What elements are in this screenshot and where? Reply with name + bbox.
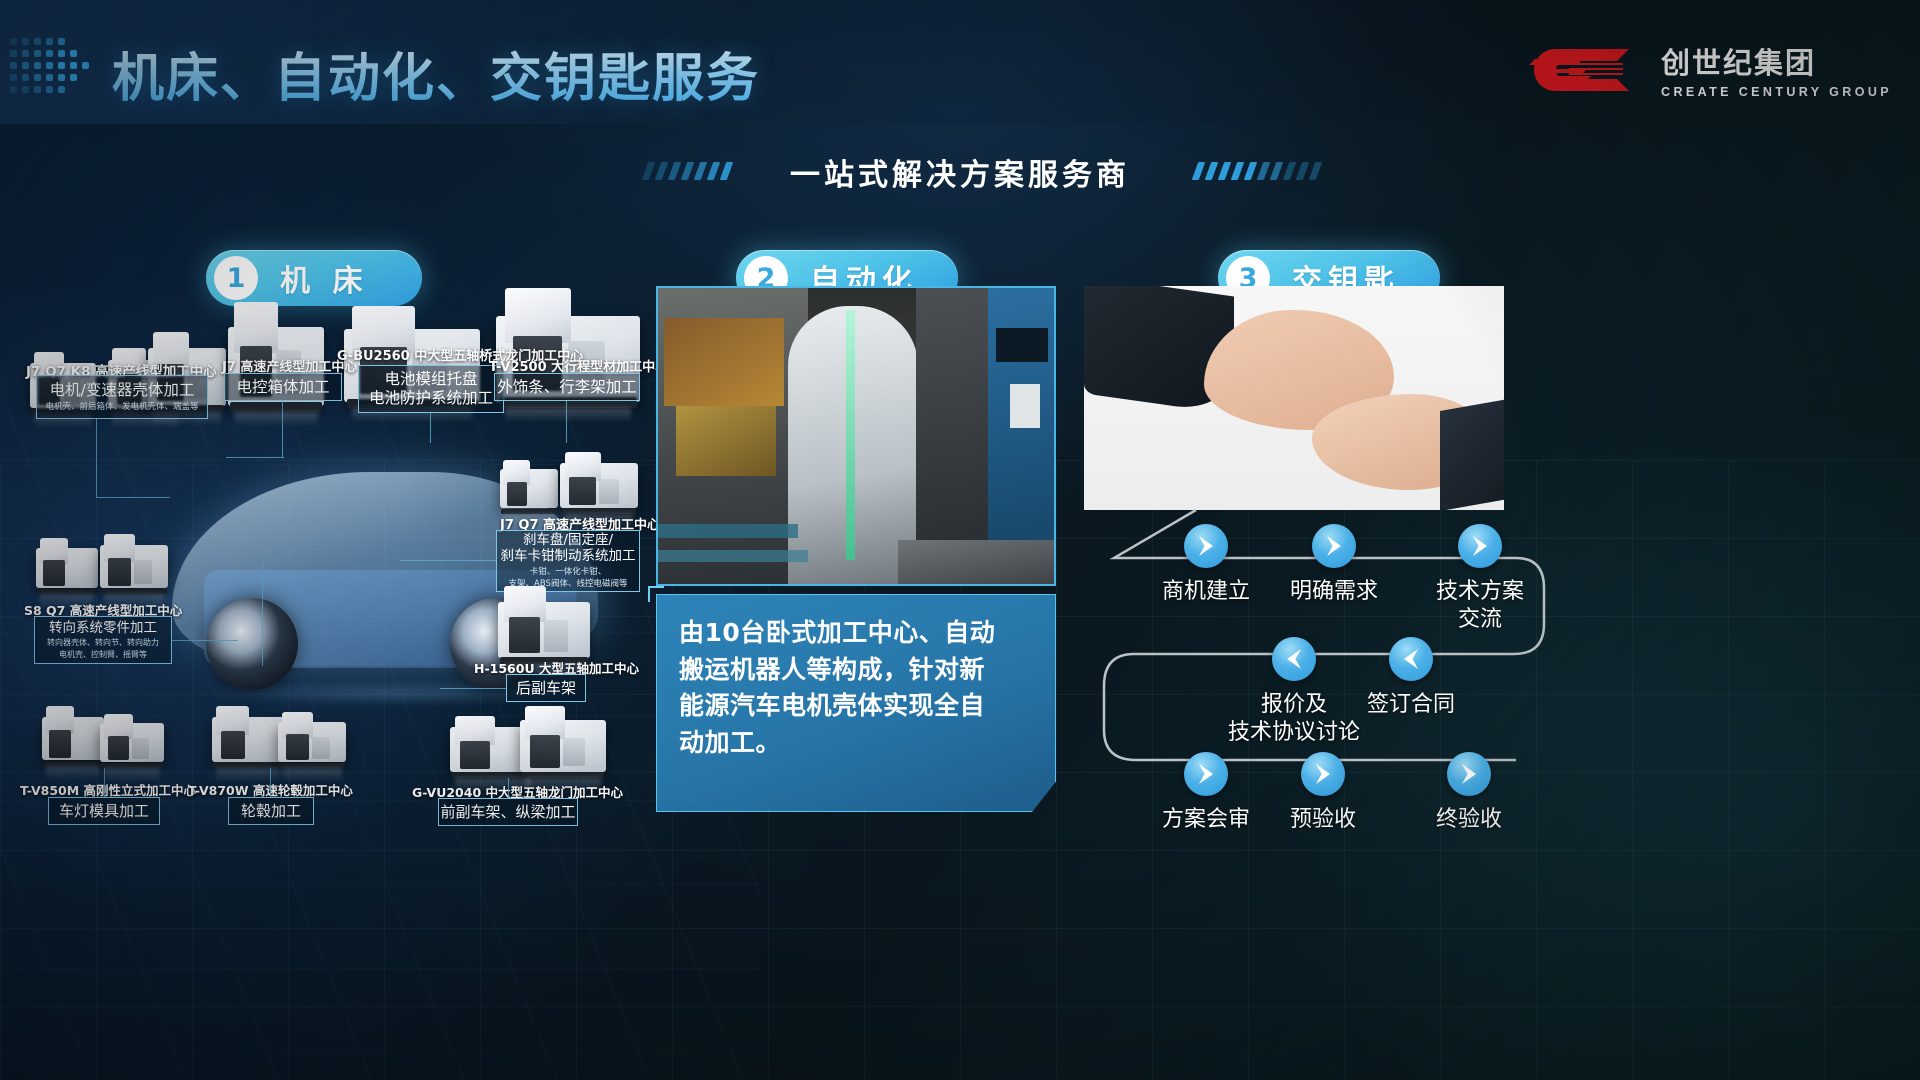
flow-label: 终验收 [1436, 806, 1502, 834]
callout-main: 后副车架 [516, 679, 576, 697]
subtitle-dashes-right [1195, 162, 1319, 180]
leader-line [400, 560, 496, 561]
machine-image [498, 586, 590, 664]
flow-node-2[interactable]: 明确需求 [1290, 524, 1378, 606]
machine-image [42, 706, 104, 766]
flow-label-2: 技术协议讨论 [1228, 719, 1360, 747]
leader-line [270, 768, 271, 797]
chevron-left-icon [1272, 637, 1316, 681]
chevron-right-icon [1458, 524, 1502, 568]
machine-image [520, 706, 606, 778]
flow-label: 方案会审 [1162, 806, 1250, 834]
machine-image [36, 538, 98, 594]
flow-label: 签订合同 [1367, 691, 1455, 719]
page-title: 机床、自动化、交钥匙服务 [112, 36, 760, 111]
callout-main: 电机/变速器壳体加工 [50, 381, 195, 400]
chevron-right-icon [1312, 524, 1356, 568]
flow-node-4[interactable]: 报价及 技术协议讨论 [1228, 637, 1360, 747]
callout-box: 电控箱体加工 [224, 373, 342, 401]
callout-main-line1: 刹车盘/固定座/ [523, 532, 613, 548]
page-subtitle: 一站式解决方案服务商 [790, 150, 1130, 194]
callout-main: 电控箱体加工 [236, 378, 329, 397]
section-label: 机 床 [258, 256, 394, 300]
flow-label-2: 交流 [1458, 606, 1502, 634]
machine-image [100, 714, 164, 768]
slide-canvas: 机床、自动化、交钥匙服务 创世纪集团 CREATE CENTURY GROUP … [0, 0, 1920, 1080]
sleeve-shape-right [1440, 397, 1504, 510]
callout-main: 转向系统零件加工 [49, 620, 157, 636]
machine-image [500, 460, 558, 514]
caption-line: 搬运机器人等构成，针对新 [679, 652, 1033, 689]
machine-image [278, 712, 346, 768]
chevron-right-icon [1184, 524, 1228, 568]
flow-label: 预验收 [1290, 806, 1356, 834]
callout-box: 外饰条、行李架加工 [494, 373, 640, 401]
leader-line [226, 457, 284, 458]
automation-caption: 由10台卧式加工中心、自动 搬运机器人等构成，针对新 能源汽车电机壳体实现全自 … [656, 594, 1056, 812]
flow-node-6[interactable]: 方案会审 [1162, 752, 1250, 834]
leader-line [104, 768, 105, 797]
callout-box: 电池模组托盘 电池防护系统加工 [358, 365, 504, 413]
caption-line: 能源汽车电机壳体实现全自 [679, 688, 1033, 725]
flow-label: 商机建立 [1162, 578, 1250, 606]
chevron-right-icon [1301, 752, 1345, 796]
cc-logo-mark-icon [1525, 47, 1643, 93]
logo-name-en: CREATE CENTURY GROUP [1661, 85, 1892, 99]
callout-box: 车灯模具加工 [48, 797, 160, 825]
chevron-left-icon [1389, 637, 1433, 681]
automation-photo [656, 286, 1056, 586]
callout-main-line1: 电池模组托盘 [384, 370, 477, 389]
chevron-right-icon [1184, 752, 1228, 796]
flow-node-3[interactable]: 技术方案 交流 [1436, 524, 1524, 634]
callout-box: 后副车架 [506, 674, 586, 702]
callout-box: 轮毂加工 [228, 797, 314, 825]
flow-label: 明确需求 [1290, 578, 1378, 606]
caption-line: 由10台卧式加工中心、自动 [679, 615, 1033, 652]
subtitle-row: 一站式解决方案服务商 [0, 150, 1920, 192]
caption-line: 动加工。 [679, 725, 1033, 762]
flow-label: 技术方案 [1436, 578, 1524, 606]
leader-line [282, 401, 283, 457]
callout-main-line2: 刹车卡钳制动系统加工 [501, 548, 636, 564]
machine-image [560, 452, 638, 514]
callout-main: 车灯模具加工 [59, 802, 149, 820]
subtitle-dashes-left [645, 162, 730, 180]
logo-name-cn: 创世纪集团 [1661, 40, 1892, 82]
callout-box: 电机/变速器壳体加工 电机壳、前后箱体、发电机壳体、端盖等 [36, 375, 208, 419]
leader-line [440, 688, 506, 689]
handover-photo [1084, 286, 1504, 510]
callout-main-line2: 电池防护系统加工 [369, 389, 493, 408]
logo-text: 创世纪集团 CREATE CENTURY GROUP [1661, 40, 1892, 99]
machine-image [100, 534, 168, 594]
callout-box: 前副车架、纵梁加工 [438, 798, 578, 826]
callout-main: 前副车架、纵梁加工 [441, 803, 576, 821]
section-badge-machine-tools[interactable]: 1 机 床 [206, 250, 422, 306]
leader-line [508, 778, 509, 798]
flow-label: 报价及 [1261, 691, 1327, 719]
company-logo: 创世纪集团 CREATE CENTURY GROUP [1525, 40, 1892, 99]
callout-box: 转向系统零件加工 转向器壳体、转向节、转向助力 电机壳、控制臂、摇臂等 [34, 616, 172, 664]
flow-node-1[interactable]: 商机建立 [1162, 524, 1250, 606]
flow-node-8[interactable]: 终验收 [1436, 752, 1502, 834]
section-number: 1 [214, 256, 258, 300]
callout-sub-line2: 电机壳、控制臂、摇臂等 [59, 650, 147, 660]
flow-node-5[interactable]: 签订合同 [1367, 637, 1455, 719]
machine-image [212, 706, 284, 768]
leader-line [172, 640, 238, 641]
callout-box: 刹车盘/固定座/ 刹车卡钳制动系统加工 卡钳、一体化卡钳、 支架、ABS阀体、线… [496, 530, 640, 592]
leader-line [262, 560, 263, 666]
leader-line [96, 497, 170, 498]
leader-line [96, 419, 97, 497]
chevron-right-icon [1447, 752, 1491, 796]
flow-node-7[interactable]: 预验收 [1290, 752, 1356, 834]
callout-main: 轮毂加工 [241, 802, 301, 820]
callout-sub-line1: 卡钳、一体化卡钳、 [530, 567, 607, 578]
leader-line [566, 401, 567, 443]
header: 机床、自动化、交钥匙服务 创世纪集团 CREATE CENTURY GROUP [0, 0, 1920, 120]
callout-sub: 电机壳、前后箱体、发电机壳体、端盖等 [46, 402, 199, 413]
callout-sub-line1: 转向器壳体、转向节、转向助力 [47, 638, 159, 648]
callout-main: 外饰条、行李架加工 [497, 378, 637, 397]
leader-line [430, 413, 431, 443]
chevron-dots-icon [8, 34, 100, 92]
